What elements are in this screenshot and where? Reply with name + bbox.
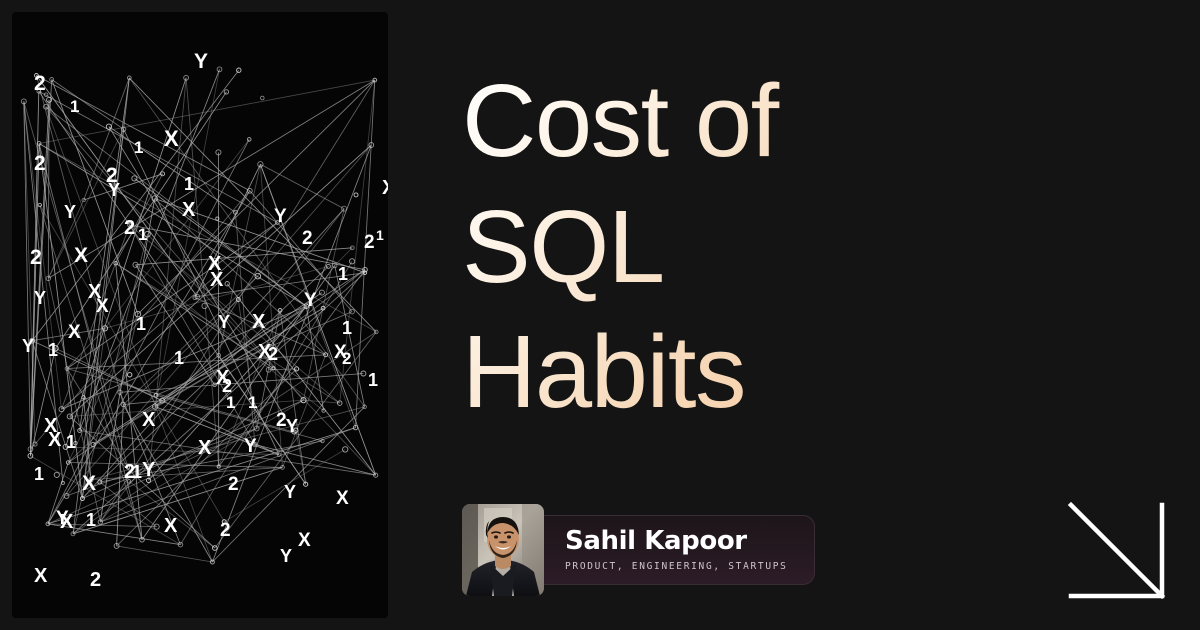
graph-label: 2	[34, 72, 46, 95]
graph-label: 2	[90, 569, 101, 591]
graph-label: Y	[284, 482, 296, 502]
graph-label: Y	[286, 416, 298, 436]
arrow-down-right-icon	[1062, 496, 1174, 608]
graph-label: 1	[338, 264, 348, 284]
graph-label: X	[252, 311, 266, 333]
graph-label: X	[68, 322, 81, 343]
artwork-panel: 21Y1X22Y1XYXY212212XX1XXYYX1XYX1Y11X2X21…	[12, 12, 388, 618]
graph-label: Y	[142, 459, 156, 481]
graph-label: Y	[244, 436, 257, 457]
graph-label: X	[48, 429, 62, 451]
graph-label: X	[164, 126, 179, 151]
graph-label: 1	[174, 348, 184, 368]
graph-label: 1	[136, 314, 146, 334]
graph-label: X	[74, 244, 88, 267]
avatar-photo	[462, 504, 544, 596]
network-graph-illustration: 21Y1X22Y1XYXY212212XX1XXYYX1XYX1Y11X2X21…	[12, 12, 388, 618]
graph-label: 2	[30, 246, 42, 269]
graph-label: 1	[86, 510, 96, 530]
graph-label: Y	[64, 202, 76, 222]
graph-label: Y	[22, 336, 34, 356]
graph-label: Y	[194, 50, 208, 73]
graph-label: 2	[34, 152, 46, 175]
graph-label: X	[82, 472, 96, 495]
graph-label: X	[336, 488, 349, 509]
graph-label: 2	[228, 474, 239, 495]
graph-label: X	[210, 269, 224, 291]
graph-label: 2	[276, 410, 287, 431]
author-badge[interactable]: Sahil Kapoor PRODUCT, ENGINEERING, START…	[462, 502, 815, 598]
graph-label: 2	[302, 228, 313, 249]
graph-label: 1	[248, 393, 257, 412]
graph-label: 2	[268, 344, 278, 364]
graph-label: 1	[138, 225, 147, 244]
avatar	[462, 504, 544, 596]
graph-label: Y	[304, 290, 317, 311]
graph-label: 1	[184, 174, 194, 194]
graph-label: 1	[368, 370, 378, 390]
graph-label: 1	[48, 340, 58, 360]
graph-label: 1	[34, 464, 44, 484]
graph-label: X	[298, 530, 311, 551]
graph-label: 1	[66, 432, 76, 452]
graph-label: Y	[34, 288, 46, 308]
graph-label: X	[198, 437, 212, 459]
arrow-down-right-glyph	[1062, 496, 1174, 608]
graph-label: X	[182, 199, 196, 221]
graph-label: X	[382, 177, 388, 199]
page-title: Cost of SQL Habits	[462, 58, 892, 435]
graph-label: 1	[132, 462, 142, 482]
graph-label: 2	[220, 520, 231, 541]
graph-label: 2	[364, 232, 375, 253]
graph-label: 1	[342, 318, 352, 338]
author-name: Sahil Kapoor	[565, 527, 788, 556]
graph-label: 1	[376, 227, 384, 243]
graph-label: 2	[342, 349, 351, 368]
graph-label: 1	[226, 393, 235, 412]
graph-label: Y	[108, 180, 120, 200]
graph-label: X	[164, 515, 178, 537]
graph-label: X	[96, 296, 109, 317]
graph-label: 1	[70, 97, 79, 116]
graph-label: X	[34, 565, 48, 587]
og-card: 21Y1X22Y1XYXY212212XX1XXYYX1XYX1Y11X2X21…	[0, 0, 1200, 630]
graph-label: Y	[218, 312, 230, 332]
graph-label: Y	[280, 546, 292, 566]
author-tagline: PRODUCT, ENGINEERING, STARTUPS	[565, 561, 788, 572]
graph-label: Y	[274, 206, 287, 227]
graph-label: X	[60, 511, 74, 533]
author-info-badge: Sahil Kapoor PRODUCT, ENGINEERING, START…	[530, 515, 815, 585]
graph-label: X	[142, 409, 156, 431]
graph-label: 2	[124, 217, 135, 239]
graph-label: 1	[134, 138, 143, 157]
